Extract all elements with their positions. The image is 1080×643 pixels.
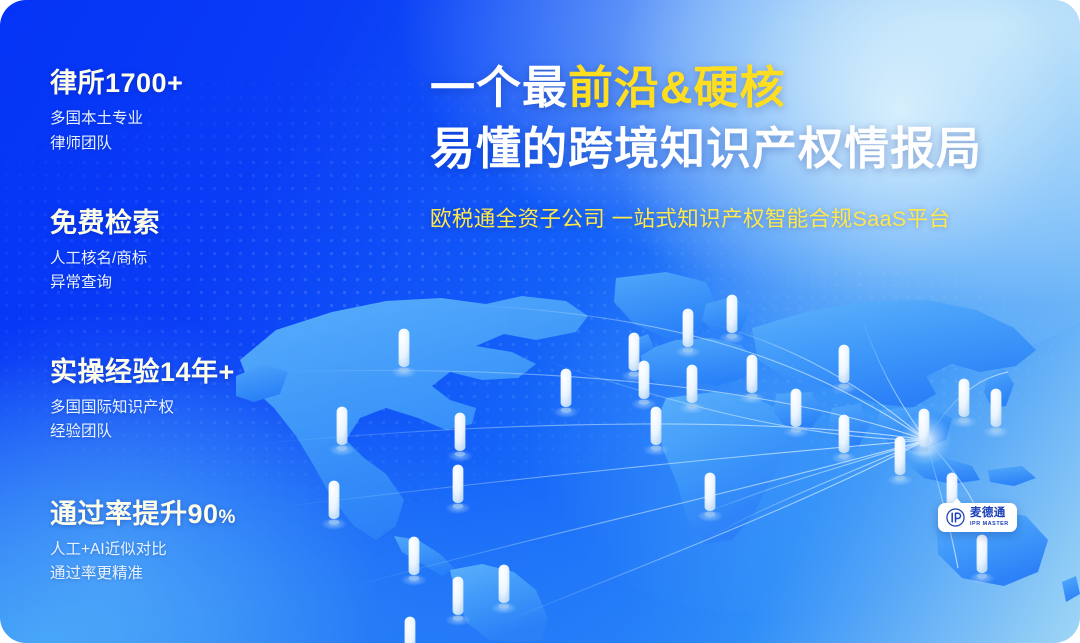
- world-map: [236, 268, 1080, 643]
- stat-subtitle-line: 人工+AI近似对比: [50, 538, 315, 562]
- headline-block: 一个最前沿&硬核 易懂的跨境知识产权情报局 欧税通全资子公司 一站式知识产权智能…: [430, 58, 1030, 233]
- stat-subtitle: 人工核名/商标 异常查询: [50, 247, 315, 296]
- location-pin-icon: [951, 379, 977, 428]
- headline-accent: 前沿&硬核: [568, 62, 786, 113]
- logo-name-cn: 麦德通: [970, 508, 1009, 520]
- stat-subtitle: 多国国际知识产权 经验团队: [50, 396, 315, 445]
- stat-item-pass-rate: 通过率提升90% 人工+AI近似对比 通过率更精准: [50, 497, 315, 587]
- stat-title: 律所1700+: [50, 66, 315, 100]
- stat-item-law-firms: 律所1700+ 多国本土专业 律师团队: [50, 66, 315, 156]
- stat-subtitle-line: 经验团队: [50, 420, 315, 444]
- stat-subtitle-line: 多国本土专业: [50, 107, 315, 131]
- logo-name-en: IPR MASTER: [970, 522, 1009, 527]
- stat-title: 免费检索: [50, 206, 315, 240]
- stat-subtitle-line: 律师团队: [50, 132, 315, 156]
- stat-title: 实操经验14年+: [50, 355, 315, 389]
- stat-subtitle: 人工+AI近似对比 通过率更精准: [50, 538, 315, 587]
- stat-title-unit: %: [219, 507, 236, 528]
- headline-subtitle: 欧税通全资子公司 一站式知识产权智能合规SaaS平台: [430, 202, 1030, 233]
- stat-item-free-search: 免费检索 人工核名/商标 异常查询: [50, 206, 315, 296]
- stats-column: 律所1700+ 多国本土专业 律师团队 免费检索 人工核名/商标 异常查询 实操…: [50, 66, 315, 594]
- stat-subtitle: 多国本土专业 律师团队: [50, 107, 315, 156]
- ip-circle-icon: [946, 508, 965, 527]
- headline-prefix: 一个最: [430, 62, 568, 113]
- stat-subtitle-line: 通过率更精准: [50, 562, 315, 586]
- stat-title: 通过率提升90%: [50, 497, 315, 531]
- stat-subtitle-line: 多国国际知识产权: [50, 396, 315, 420]
- logo-text: 麦德通 IPR MASTER: [970, 508, 1009, 527]
- promo-banner: 律所1700+ 多国本土专业 律师团队 免费检索 人工核名/商标 异常查询 实操…: [0, 0, 1080, 643]
- stat-title-value: 通过率提升90: [50, 499, 219, 529]
- location-pin-icon: [445, 465, 471, 514]
- location-pin-icon: [397, 617, 423, 643]
- headline-line-1: 一个最前沿&硬核: [430, 58, 1030, 119]
- headline-line-2: 易懂的跨境知识产权情报局: [430, 119, 1030, 180]
- stat-subtitle-line: 人工核名/商标: [50, 247, 315, 271]
- logo-badge[interactable]: 麦德通 IPR MASTER: [938, 503, 1017, 532]
- stat-subtitle-line: 异常查询: [50, 271, 315, 295]
- stat-item-experience: 实操经验14年+ 多国国际知识产权 经验团队: [50, 355, 315, 445]
